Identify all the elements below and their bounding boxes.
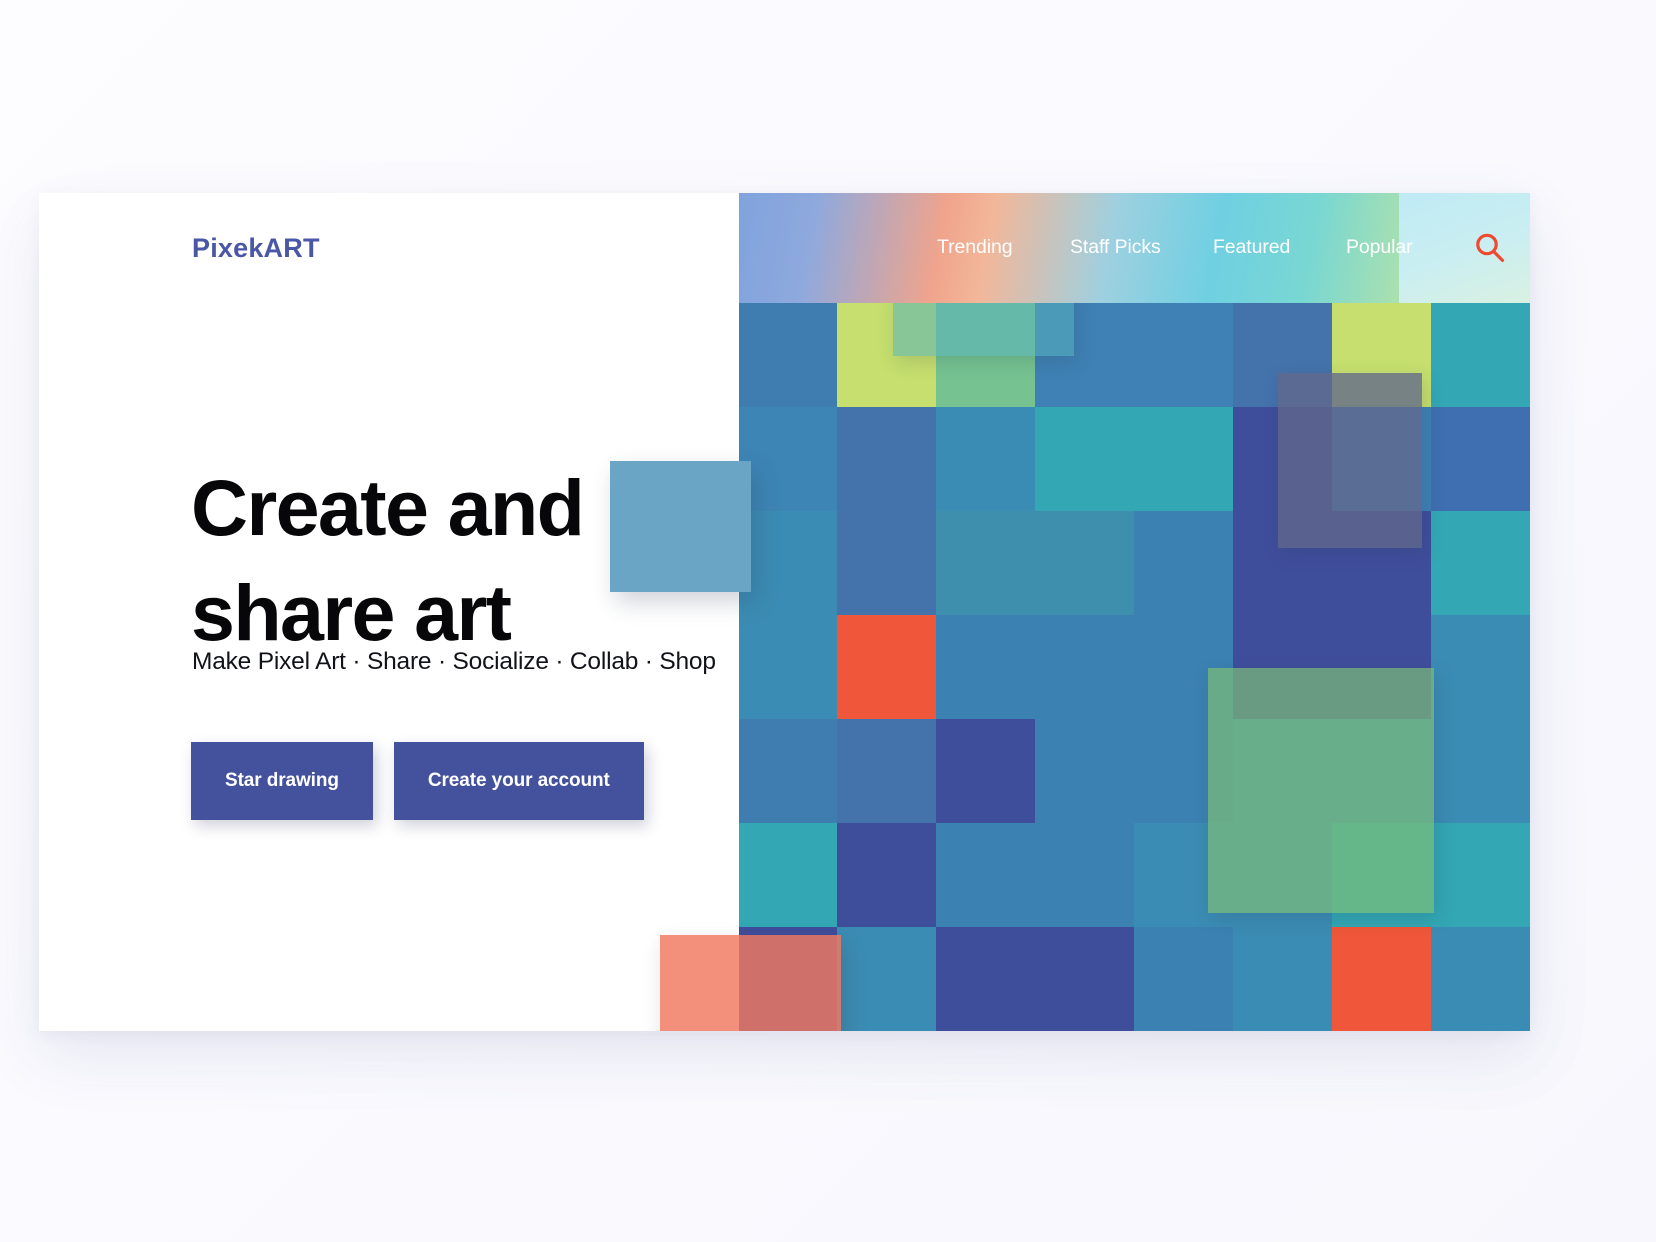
pixel-cell[interactable] [936,407,1035,511]
pixel-cell[interactable] [738,511,837,615]
page-background: Trending Staff Picks Featured Popular Pi… [0,0,1656,1242]
pixel-cell[interactable] [1431,511,1530,615]
star-drawing-button[interactable]: Star drawing [191,742,373,820]
pixel-cell[interactable] [1035,719,1134,823]
nav-item-popular[interactable]: Popular [1346,236,1413,259]
pixel-cell[interactable] [1332,927,1431,1031]
search-icon[interactable] [1473,231,1507,265]
pixel-cell[interactable] [1431,303,1530,407]
green-overlay-square [1208,668,1434,913]
pixel-cell[interactable] [1134,511,1233,615]
pixel-cell[interactable] [1035,615,1134,719]
salmon-square [660,935,841,1031]
pixel-cell[interactable] [837,407,936,511]
pixel-cell[interactable] [1134,927,1233,1031]
pixel-cell[interactable] [936,823,1035,927]
pixel-cell[interactable] [738,407,837,511]
pixel-cell[interactable] [1431,407,1530,511]
pixel-cell[interactable] [837,719,936,823]
pixel-cell[interactable] [1431,823,1530,927]
pixel-cell[interactable] [1431,615,1530,719]
nav-item-trending[interactable]: Trending [937,236,1012,259]
pixel-cell[interactable] [1431,719,1530,823]
pixel-cell[interactable] [738,719,837,823]
steel-square [610,461,751,592]
hero-actions: Star drawing Create your account [191,742,644,820]
pixel-cell[interactable] [837,511,936,615]
pixel-cell[interactable] [1134,407,1233,511]
pixel-cell[interactable] [1431,927,1530,1031]
pixel-cell[interactable] [1035,823,1134,927]
pixel-cell[interactable] [1035,927,1134,1031]
pixel-cell[interactable] [936,511,1035,615]
pixel-cell[interactable] [1134,303,1233,407]
pixel-cell[interactable] [1035,407,1134,511]
pixel-cell[interactable] [1233,927,1332,1031]
pixel-cell[interactable] [837,615,936,719]
hero-subtitle: Make Pixel Art · Share · Socialize · Col… [192,648,716,676]
pixel-cell[interactable] [936,615,1035,719]
hero-content: PixekART Create and share art Make Pixel… [39,193,739,1031]
pixel-cell[interactable] [1035,511,1134,615]
nav-item-featured[interactable]: Featured [1213,236,1290,259]
pixel-cell[interactable] [837,927,936,1031]
pixel-cell[interactable] [837,823,936,927]
pixel-cell[interactable] [936,719,1035,823]
pixel-cell[interactable] [738,303,837,407]
pixel-cell[interactable] [936,927,1035,1031]
main-navigation: Trending Staff Picks Featured Popular [738,193,1530,303]
pixel-cell[interactable] [738,823,837,927]
nav-item-staff-picks[interactable]: Staff Picks [1070,236,1161,259]
hero-card: Trending Staff Picks Featured Popular Pi… [39,193,1530,1031]
gray-overlay-square [1278,373,1422,548]
brand-logo[interactable]: PixekART [192,233,320,264]
artwork-panel: Trending Staff Picks Featured Popular [738,193,1530,1031]
create-account-button[interactable]: Create your account [394,742,644,820]
pixel-cell[interactable] [738,615,837,719]
